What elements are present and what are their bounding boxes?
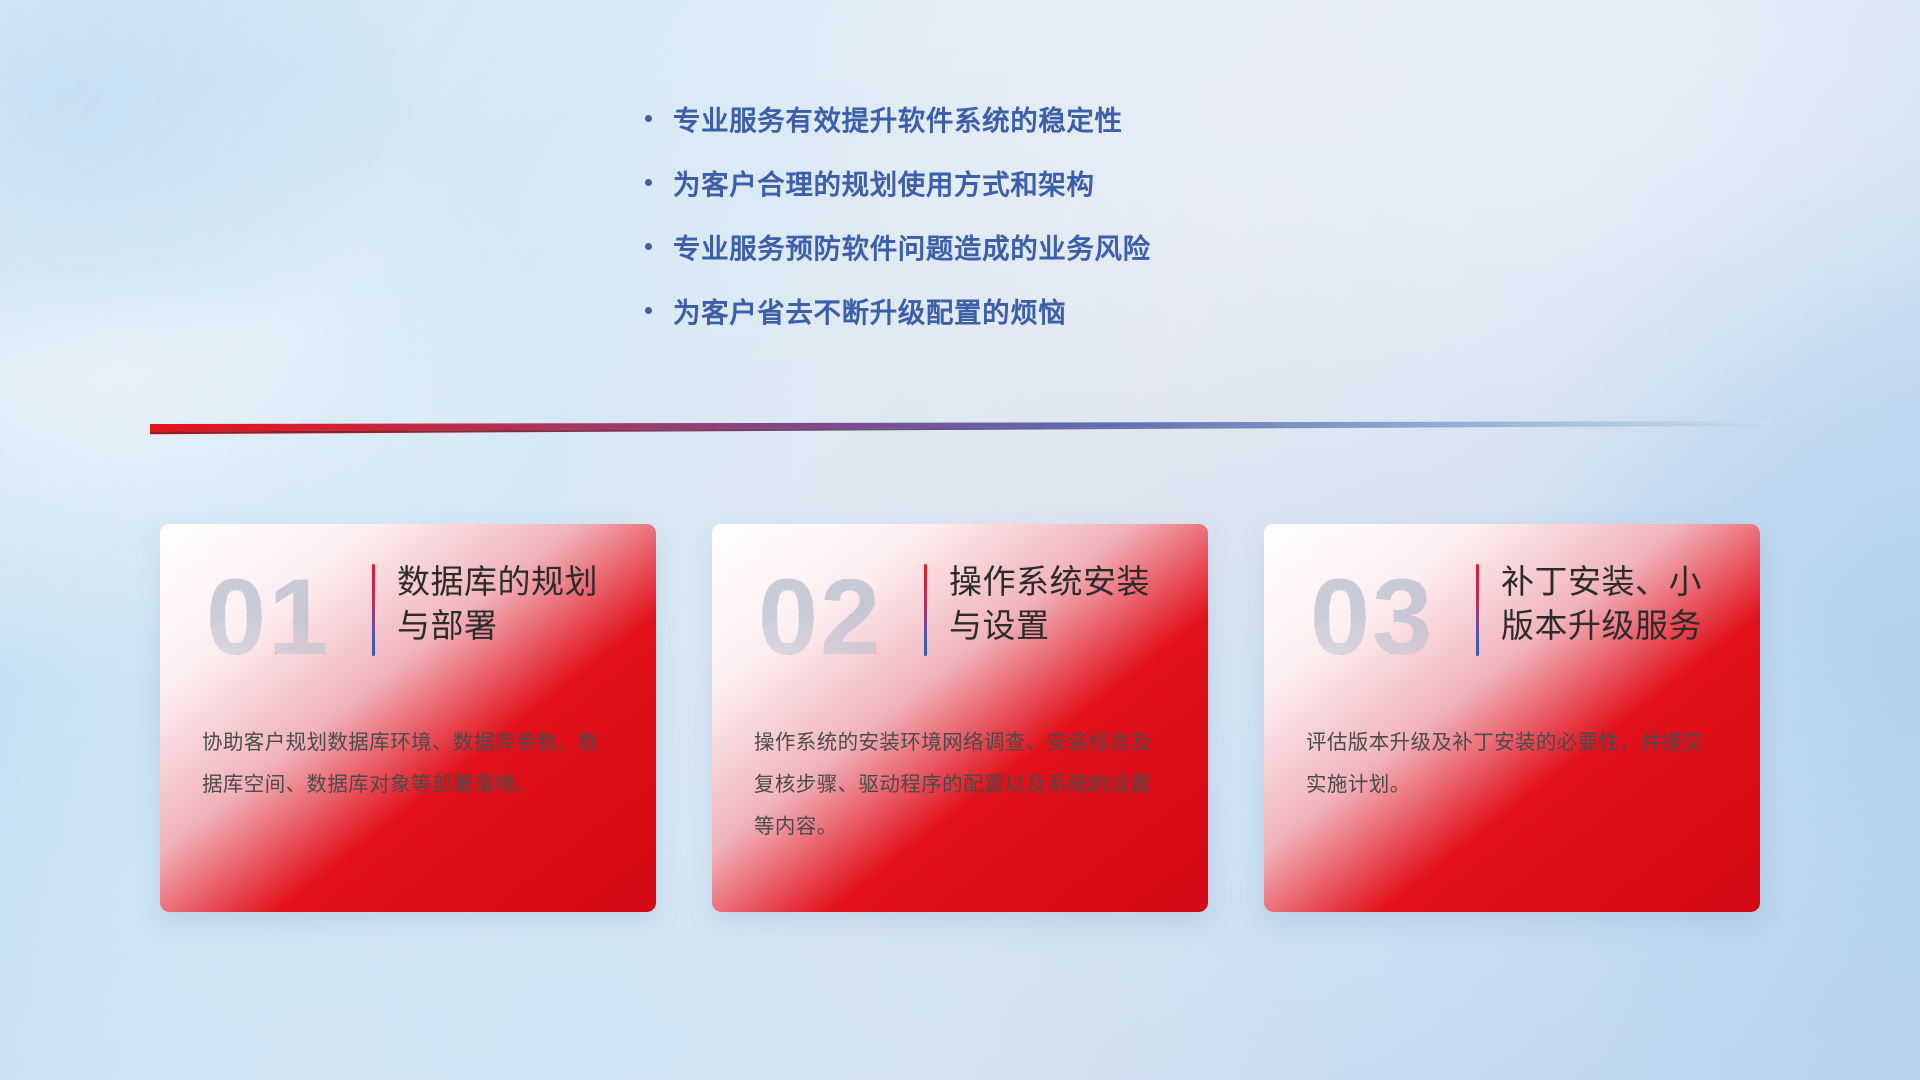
card-description: 操作系统的安装环境网络调查、安装标准及复核步骤、驱动程序的配置以及系统的设置等内… [754, 722, 1166, 847]
card-title-line: 版本升级服务 [1501, 604, 1702, 648]
bullet-item: 专业服务有效提升软件系统的稳定性 [645, 86, 1275, 150]
card-title-line: 与部署 [397, 604, 598, 648]
card-title-line: 操作系统安装 [949, 560, 1150, 604]
card-accent-bar [924, 564, 927, 656]
svg-text:01: 01 [206, 558, 330, 677]
card-header: 02 02 操作系统安装 与设置 [754, 558, 1166, 684]
bullet-item-label: 为客户合理的规划使用方式和架构 [673, 162, 1095, 202]
service-card[interactable]: 01 01 数据库的规划 与部署 协助客户规划数据库环境、数据库参数、数据库空间… [160, 524, 656, 912]
bullet-dot-icon [645, 307, 673, 314]
svg-text:02: 02 [758, 558, 882, 677]
card-accent-bar [372, 564, 375, 656]
bullet-item-label: 专业服务预防软件问题造成的业务风险 [673, 226, 1151, 266]
service-card[interactable]: 03 03 补丁安装、小 版本升级服务 评估版本升级及补丁安装的必要性，并提交实… [1264, 524, 1760, 912]
card-header: 01 01 数据库的规划 与部署 [202, 558, 614, 684]
card-title: 操作系统安装 与设置 [949, 558, 1150, 648]
card-title-line: 与设置 [949, 604, 1150, 648]
benefit-bullet-list: 专业服务有效提升软件系统的稳定性 为客户合理的规划使用方式和架构 专业服务预防软… [0, 86, 1920, 342]
bullet-item: 为客户合理的规划使用方式和架构 [645, 150, 1275, 214]
service-card[interactable]: 02 02 操作系统安装 与设置 操作系统的安装环境网络调查、安装标准及复核步骤… [712, 524, 1208, 912]
card-accent-bar [1476, 564, 1479, 656]
card-number-watermark: 02 02 [758, 558, 920, 678]
bullet-item: 为客户省去不断升级配置的烦恼 [645, 278, 1275, 342]
card-description: 协助客户规划数据库环境、数据库参数、数据库空间、数据库对象等部署落地。 [202, 722, 614, 806]
bullet-item: 专业服务预防软件问题造成的业务风险 [645, 214, 1275, 278]
card-title-line: 补丁安装、小 [1501, 560, 1702, 604]
card-number-watermark: 01 01 [206, 558, 368, 678]
bullet-dot-icon [645, 115, 673, 122]
bullet-dot-icon [645, 243, 673, 250]
section-divider [150, 421, 1770, 437]
card-title: 补丁安装、小 版本升级服务 [1501, 558, 1702, 648]
bullet-item-label: 专业服务有效提升软件系统的稳定性 [673, 98, 1123, 138]
svg-text:03: 03 [1310, 558, 1434, 677]
card-title-line: 数据库的规划 [397, 560, 598, 604]
bullet-item-label: 为客户省去不断升级配置的烦恼 [673, 290, 1066, 330]
bullet-dot-icon [645, 179, 673, 186]
service-card-list: 01 01 数据库的规划 与部署 协助客户规划数据库环境、数据库参数、数据库空间… [0, 524, 1920, 912]
card-header: 03 03 补丁安装、小 版本升级服务 [1306, 558, 1718, 684]
card-description: 评估版本升级及补丁安装的必要性，并提交实施计划。 [1306, 722, 1718, 806]
card-title: 数据库的规划 与部署 [397, 558, 598, 648]
card-number-watermark: 03 03 [1310, 558, 1472, 678]
